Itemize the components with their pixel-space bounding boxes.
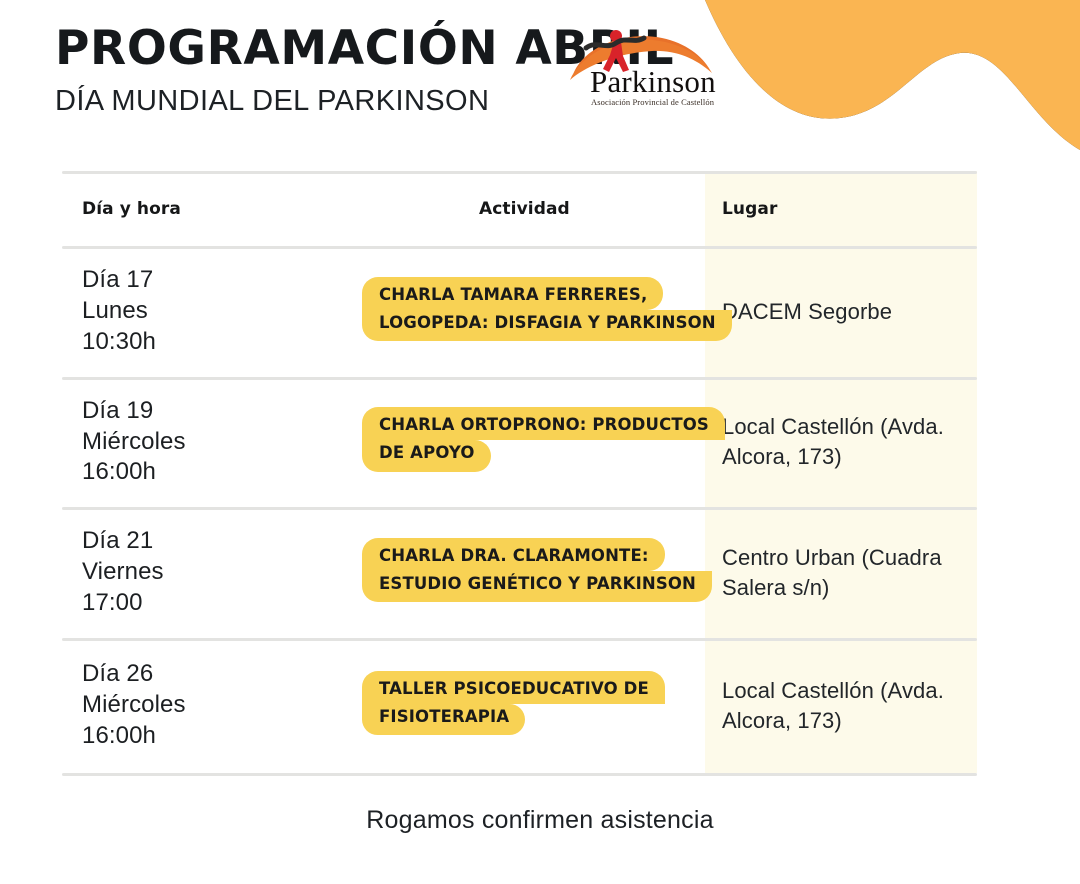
row-time: 17:00: [82, 588, 362, 619]
column-header-activity: Actividad: [362, 199, 570, 219]
row-day-number: Día 19: [82, 396, 362, 427]
row-place: DACEM Segorbe: [722, 297, 977, 327]
row-time: 10:30h: [82, 327, 362, 358]
row-time: 16:00h: [82, 721, 362, 752]
activity-line: CHARLA DRA. CLARAMONTE:: [362, 538, 665, 571]
column-header-day: Día y hora: [82, 199, 181, 219]
activity-line: CHARLA TAMARA FERRERES,: [362, 277, 663, 310]
row-place: Local Castellón (Avda. Alcora, 173): [722, 412, 977, 471]
table-row: Día 26 Miércoles 16:00h TALLER PSICOEDUC…: [62, 638, 977, 773]
row-time: 16:00h: [82, 457, 362, 488]
activity-line: DE APOYO: [362, 440, 491, 472]
activity-line: FISIOTERAPIA: [362, 704, 525, 736]
schedule-table: Día y hora Actividad Lugar Día 17 Lunes …: [62, 171, 977, 773]
row-day-number: Día 21: [82, 526, 362, 557]
row-weekday: Miércoles: [82, 427, 362, 458]
table-row: Día 21 Viernes 17:00 CHARLA DRA. CLARAMO…: [62, 507, 977, 638]
row-weekday: Lunes: [82, 296, 362, 327]
activity-highlight: CHARLA TAMARA FERRERES, LOGOPEDA: DISFAG…: [362, 277, 732, 342]
row-place: Local Castellón (Avda. Alcora, 173): [722, 676, 977, 735]
table-row: Día 19 Miércoles 16:00h CHARLA ORTOPRONO…: [62, 377, 977, 507]
activity-highlight: CHARLA DRA. CLARAMONTE: ESTUDIO GENÉTICO…: [362, 538, 712, 603]
row-day-number: Día 17: [82, 265, 362, 296]
table-header-row: Día y hora Actividad Lugar: [62, 171, 977, 246]
table-rule-bottom: [62, 773, 977, 776]
activity-line: ESTUDIO GENÉTICO Y PARKINSON: [362, 571, 712, 603]
activity-line: TALLER PSICOEDUCATIVO DE: [362, 671, 665, 704]
table-row: Día 17 Lunes 10:30h CHARLA TAMARA FERRER…: [62, 246, 977, 377]
activity-highlight: CHARLA ORTOPRONO: PRODUCTOS DE APOYO: [362, 407, 725, 472]
column-header-place: Lugar: [722, 199, 777, 219]
logo-tagline: Asociación Provincial de Castellón: [591, 97, 714, 107]
row-weekday: Miércoles: [82, 690, 362, 721]
row-weekday: Viernes: [82, 557, 362, 588]
row-day-number: Día 26: [82, 659, 362, 690]
footer-note: Rogamos confirmen asistencia: [0, 806, 1080, 835]
activity-line: CHARLA ORTOPRONO: PRODUCTOS: [362, 407, 725, 440]
poster-canvas: PROGRAMACIÓN ABRIL DÍA MUNDIAL DEL PARKI…: [0, 0, 1080, 884]
activity-highlight: TALLER PSICOEDUCATIVO DE FISIOTERAPIA: [362, 671, 665, 736]
parkinson-logo: Parkinson Asociación Provincial de Caste…: [566, 26, 716, 114]
logo-wordmark: Parkinson: [590, 66, 716, 97]
activity-line: LOGOPEDA: DISFAGIA Y PARKINSON: [362, 310, 732, 342]
row-place: Centro Urban (Cuadra Salera s/n): [722, 543, 977, 602]
